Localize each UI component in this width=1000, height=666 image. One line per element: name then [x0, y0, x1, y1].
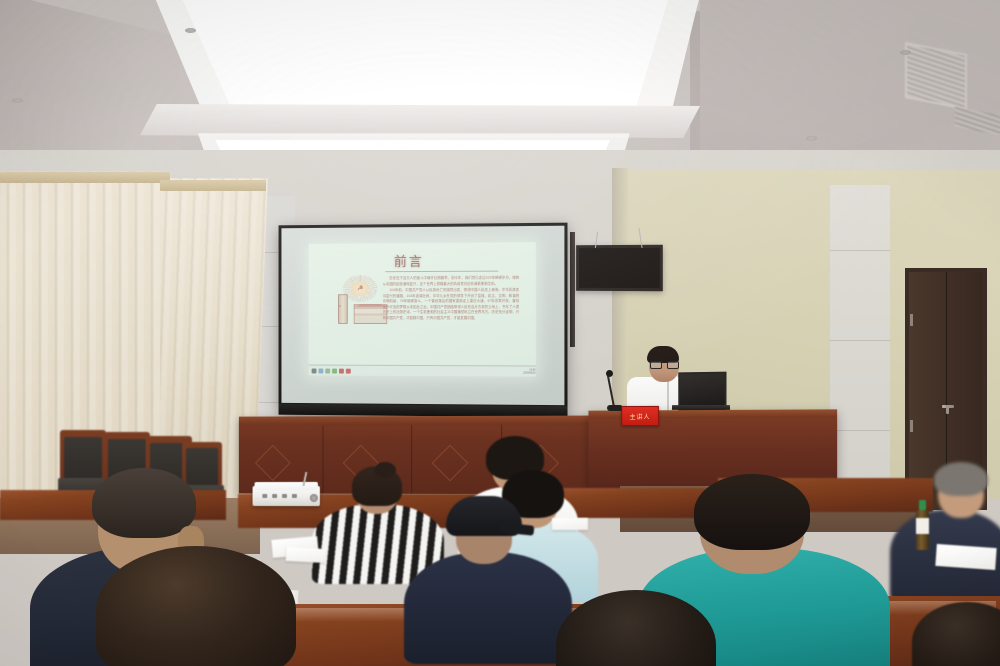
browser-icon[interactable] [332, 368, 337, 373]
attendee-back-head [556, 590, 716, 666]
huabiao-capital [339, 305, 341, 307]
start-icon[interactable] [312, 368, 317, 373]
projection-screen: ☭ 前言 历史在千百万人的奋斗中铸开壮丽篇章，到今年，我们党已走过104年峥嵘岁… [279, 223, 568, 418]
downlight [185, 28, 196, 33]
curtain-rail [160, 180, 266, 191]
explorer-icon[interactable] [326, 368, 331, 373]
conference-room-photo: ☭ 前言 历史在千百万人的奋斗中铸开壮丽篇章，到今年，我们党已走过104年峥嵘岁… [0, 0, 1000, 666]
green-cap-bottle[interactable] [916, 500, 929, 550]
ceiling-ridge [140, 104, 700, 138]
downlight [900, 50, 911, 55]
slide-paragraph: 历史在千百万人的奋斗中铸开壮丽篇章，到今年，我们党已走过104年峥嵘岁月，她的从… [383, 276, 520, 288]
door-hinge [910, 314, 913, 326]
air-vent-icon [905, 42, 967, 110]
attendee-dark-hair [96, 546, 296, 666]
projected-slide: ☭ 前言 历史在千百万人的奋斗中铸开壮丽篇章，到今年，我们党已走过104年峥嵘岁… [309, 242, 535, 376]
clock-date: 2025/05/23 [523, 371, 535, 374]
projection-screen-surface: ☭ 前言 历史在千百万人的奋斗中铸开壮丽篇章，到今年，我们党已走过104年峥嵘岁… [281, 226, 564, 405]
hammer-sickle-glyph: ☭ [352, 282, 369, 295]
huabiao-column-icon [338, 294, 349, 323]
slide-body-text: 历史在千百万人的奋斗中铸开壮丽篇章，到今年，我们党已走过104年峥嵘岁月，她的从… [383, 276, 520, 323]
right-wall-white-panel [830, 185, 890, 485]
cpc-hammer-sickle-emblem-icon: ☭ [333, 275, 387, 323]
downlight [12, 98, 23, 103]
pdf-icon[interactable] [339, 368, 344, 373]
search-icon[interactable] [319, 368, 324, 373]
attendee-black-cap [404, 498, 572, 658]
door-hinge [910, 420, 913, 432]
downlight [806, 136, 817, 141]
powerpoint-icon[interactable] [346, 368, 351, 373]
glasses-icon [650, 361, 678, 367]
attendee-edge [912, 602, 1000, 666]
door-lever-icon[interactable] [946, 405, 949, 414]
wall-display-mount [570, 232, 575, 347]
slide-title-underline [385, 270, 499, 272]
taskbar-clock[interactable]: 14:35 2025/05/23 [523, 368, 535, 374]
slide-title: 前言 [394, 251, 424, 270]
slide-paragraph: 104年前，中国共产党人从民族危亡的困境出发，带领中国人民走上奋强、中华民族走向… [383, 288, 520, 321]
windows-taskbar[interactable]: 14:35 2025/05/23 [309, 365, 535, 376]
presenter-name-placard: 主讲人 [621, 406, 659, 426]
curtain-rail [0, 172, 170, 183]
attendee-dark-suit [890, 470, 1000, 600]
wall-mounted-panel[interactable] [576, 245, 663, 292]
handout-paper[interactable] [935, 544, 996, 570]
